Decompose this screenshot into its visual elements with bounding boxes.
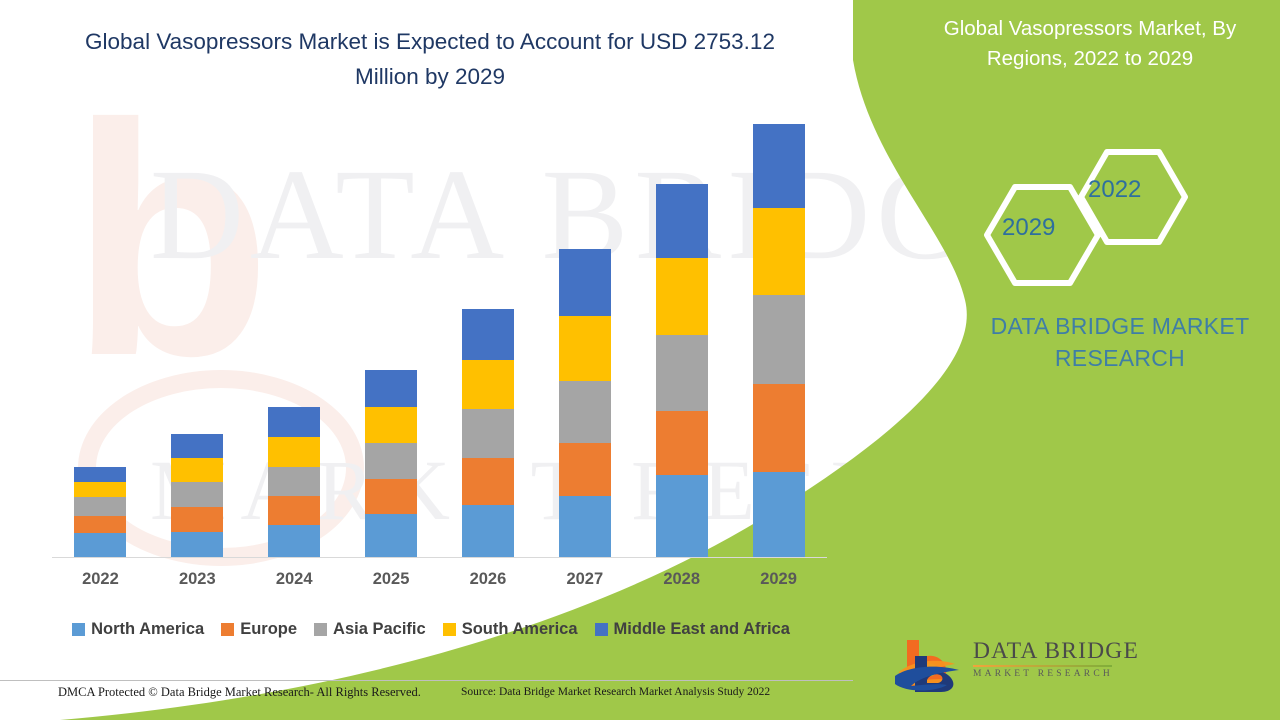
bar-segment [268,525,320,556]
bar-segment [753,208,805,295]
logo-wordmark: DATA BRIDGE MARKET RESEARCH [973,638,1113,680]
x-axis-label: 2027 [559,570,611,589]
bar-segment [171,458,223,482]
legend-item[interactable]: Asia Pacific [314,620,426,639]
x-axis-label: 2025 [365,570,417,589]
legend-swatch-icon [443,623,456,636]
legend-swatch-icon [595,623,608,636]
x-axis-label: 2023 [171,570,223,589]
x-axis-label: 2026 [462,570,514,589]
brand-name: DATA BRIDGE MARKET RESEARCH [960,310,1280,374]
bar-segment [74,482,126,497]
legend-label: Europe [240,620,297,639]
bar-segment [268,437,320,467]
bar-segment [365,443,417,479]
legend-label: North America [91,620,204,639]
bar-segment [656,475,708,556]
x-axis-label: 2022 [74,570,126,589]
infographic-page: b DATA BRIDGE MARKET RESEARCH Global Vas… [0,0,1280,720]
bar-segment [462,360,514,409]
bar-segment [656,335,708,412]
stacked-bar [74,467,126,556]
bar-segment [462,409,514,458]
bar-segment [171,507,223,532]
bar-segment [462,505,514,556]
bar-segment [559,443,611,496]
bar-segment [559,381,611,442]
footer-copyright: DMCA Protected © Data Bridge Market Rese… [58,685,421,700]
footer-divider [0,680,853,681]
legend-item[interactable]: South America [443,620,578,639]
stacked-bar [268,407,320,557]
logo-mark-icon [893,636,965,692]
stacked-bar-group [52,100,827,557]
bar-segment [171,434,223,458]
bar-segment [753,384,805,472]
legend-swatch-icon [314,623,327,636]
logo-divider [973,665,1112,667]
chart-legend: North AmericaEuropeAsia PacificSouth Ame… [52,614,827,644]
bar-segment [462,458,514,506]
legend-label: Middle East and Africa [614,620,790,639]
bar-segment [753,295,805,383]
x-axis-label: 2028 [656,570,708,589]
x-axis-labels: 20222023202420252026202720282029 [52,565,827,593]
bar-segment [268,496,320,525]
bar-segment [74,533,126,556]
legend-label: South America [462,620,578,639]
footer-source: Source: Data Bridge Market Research Mark… [461,686,770,698]
x-axis-line [52,557,827,559]
bar-segment [74,467,126,482]
bar-segment [74,497,126,516]
bar-segment [753,472,805,557]
bar-segment [656,184,708,258]
stacked-bar [365,370,417,557]
stacked-bar [559,249,611,556]
bar-segment [365,479,417,514]
bar-segment [559,249,611,316]
bar-segment [268,467,320,496]
bar-segment [171,482,223,506]
chart-plot-area [52,100,827,558]
bar-segment [559,316,611,381]
logo-main-text: DATA BRIDGE [973,638,1113,664]
bar-segment [365,514,417,557]
panel-title: Global Vasopressors Market, By Regions, … [915,14,1265,74]
legend-swatch-icon [72,623,85,636]
bar-segment [365,407,417,443]
legend-item[interactable]: North America [72,620,204,639]
x-axis-label: 2029 [753,570,805,589]
bar-segment [74,516,126,533]
bar-segment [462,309,514,360]
stacked-bar [171,434,223,557]
hexagon-label-2022: 2022 [1088,176,1141,204]
hexagon-badges: 2022 2029 [975,140,1195,290]
legend-swatch-icon [221,623,234,636]
stacked-bar [753,124,805,557]
bar-segment [171,532,223,556]
bar-segment [656,411,708,475]
bar-segment [365,370,417,407]
stacked-bar [656,184,708,557]
legend-item[interactable]: Europe [221,620,297,639]
bar-segment [753,124,805,209]
x-axis-label: 2024 [268,570,320,589]
stacked-bar [462,309,514,556]
bar-segment [268,407,320,437]
chart-title: Global Vasopressors Market is Expected t… [70,24,790,94]
bar-segment [559,496,611,556]
bar-segment [656,258,708,335]
legend-label: Asia Pacific [333,620,426,639]
logo-sub-text: MARKET RESEARCH [973,668,1113,680]
legend-item[interactable]: Middle East and Africa [595,620,790,639]
data-bridge-logo: DATA BRIDGE MARKET RESEARCH [893,636,1108,692]
hexagon-label-2029: 2029 [1002,214,1055,242]
